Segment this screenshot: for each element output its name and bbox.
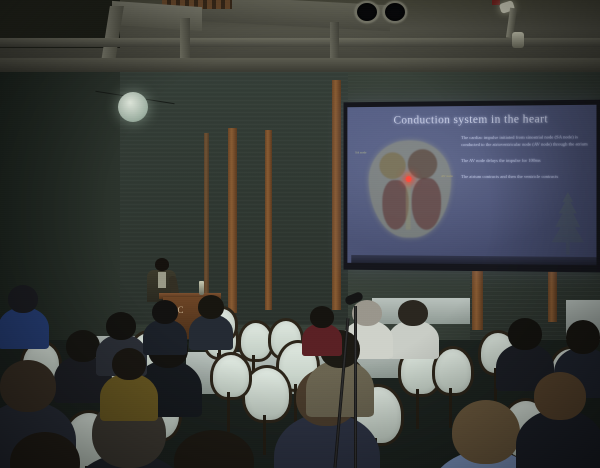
person-head <box>452 400 520 464</box>
person-shoulders <box>0 307 49 349</box>
person-shoulders <box>388 320 439 359</box>
audience-bottom-mid <box>174 430 254 468</box>
person-head <box>0 360 56 412</box>
audience-center <box>198 295 224 343</box>
projection-screen: Conduction system in the heart SA node A… <box>344 100 600 273</box>
slide-bullet-1: The cardiac impulse initiated from sinoa… <box>461 133 590 148</box>
ceiling-beam-upper <box>0 38 600 47</box>
audience-blond-right <box>452 400 520 468</box>
lecture-room-photo: Conduction system in the heart SA node A… <box>0 0 600 468</box>
water-bottle <box>199 281 204 295</box>
person-head <box>8 285 38 313</box>
person-head <box>398 300 428 326</box>
audience-red <box>310 306 334 350</box>
audience-navy <box>152 300 178 348</box>
mic-stand-pole <box>354 306 357 468</box>
av-node-label: AV node <box>441 174 453 178</box>
person-head <box>508 318 542 350</box>
slide-bullets: The cardiac impulse initiated from sinoa… <box>461 133 590 189</box>
ceiling-beam-lower <box>0 58 600 72</box>
audience-bottom-left <box>10 432 80 468</box>
person-head <box>174 430 254 468</box>
heart-diagram: SA node AV node <box>363 136 457 241</box>
presenter-shirt <box>158 272 166 288</box>
slide-bullet-2: The AV node delays the impulse for 100ms <box>461 157 590 165</box>
projected-slide: Conduction system in the heart SA node A… <box>347 105 596 265</box>
person-head <box>152 300 178 324</box>
person-shoulders <box>302 323 343 356</box>
pendant-light-icon <box>118 92 148 122</box>
right-ventricle <box>382 180 408 230</box>
chair-leg <box>227 392 230 432</box>
person-head <box>106 312 136 340</box>
chair-leg <box>416 389 419 429</box>
chair-leg <box>263 415 266 455</box>
laser-pointer-dot <box>406 176 412 182</box>
wall-pillar <box>228 128 237 313</box>
audience-mid-left <box>66 330 100 394</box>
person-head <box>10 432 80 468</box>
track-light-bulb <box>512 32 524 48</box>
audience-chair <box>210 352 246 394</box>
left-ventricle <box>412 178 442 230</box>
audience-chair <box>238 320 268 356</box>
chair-back <box>210 352 252 400</box>
person-head <box>112 348 146 380</box>
person-head <box>310 306 334 328</box>
person-head <box>534 372 586 420</box>
person-head <box>566 320 600 354</box>
spotlight-icon-2 <box>383 1 407 23</box>
presenter-head <box>155 258 169 271</box>
person-shoulders <box>100 373 158 421</box>
person-shoulders <box>189 314 233 350</box>
slide-title: Conduction system in the heart <box>347 113 596 127</box>
sa-node-label: SA node <box>355 150 366 154</box>
wall-pillar <box>265 130 272 310</box>
spotlight-icon-1 <box>355 1 379 23</box>
person-head <box>198 295 224 319</box>
person-shoulders <box>143 319 187 355</box>
audience-brown-right <box>534 372 586 468</box>
wall-pillar <box>204 133 209 308</box>
left-atrium <box>408 149 438 179</box>
audience-gold-tie <box>112 348 146 412</box>
slide-bullet-3: The atrium contracts and then the ventri… <box>461 173 590 180</box>
audience-white-shirt <box>398 300 428 352</box>
slide-footer-band <box>351 255 596 265</box>
wall-pillar <box>332 80 341 310</box>
audience-front-left <box>8 285 38 341</box>
right-atrium <box>379 152 405 179</box>
person-head <box>66 330 100 362</box>
